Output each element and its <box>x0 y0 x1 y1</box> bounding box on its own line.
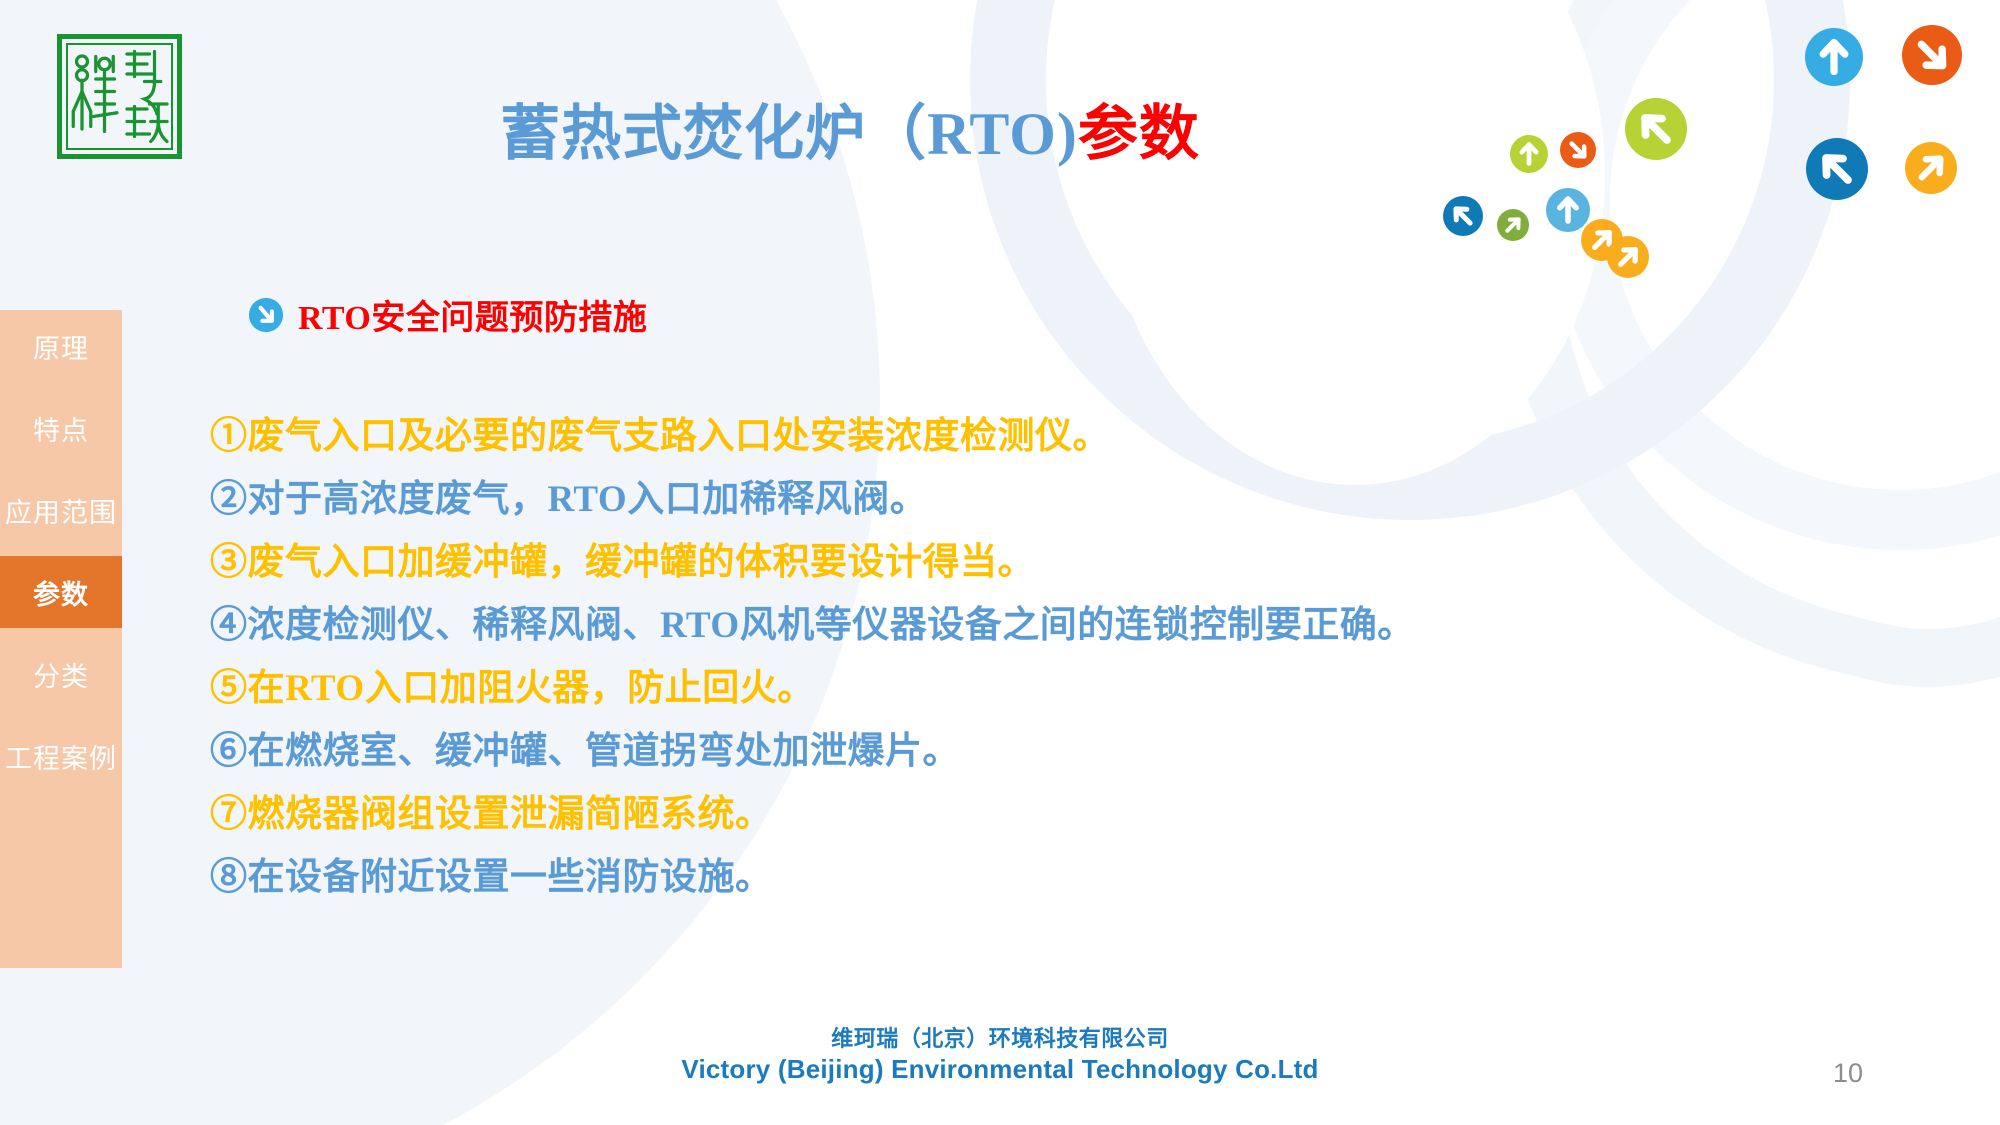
company-name-cn: 维珂瑞（北京）环境科技有限公司 <box>0 1025 2000 1053</box>
page-number: 10 <box>1833 1058 1863 1089</box>
slide-canvas: 蓄热式焚化炉（RTO)参数 原理 特点 应用范围 参数 分类 工程案例 RTO安… <box>0 0 2000 1125</box>
arrow-up-left-circle-icon <box>1625 98 1687 160</box>
arrow-up-circle-icon <box>1510 135 1548 173</box>
arrow-up-left-circle-icon <box>1806 138 1868 200</box>
company-name-en: Victory (Beijing) Environmental Technolo… <box>0 1053 2000 1086</box>
footer: 维珂瑞（北京）环境科技有限公司 Victory (Beijing) Enviro… <box>0 1025 2000 1086</box>
arrow-up-right-circle-icon <box>1905 142 1957 194</box>
arrow-up-circle-icon <box>1805 28 1863 86</box>
arrow-cluster-decoration <box>0 0 2000 1125</box>
arrow-down-right-circle-icon <box>1560 132 1596 168</box>
arrow-up-right-circle-icon <box>1607 236 1649 278</box>
arrow-up-right-circle-icon <box>1497 209 1529 241</box>
arrow-up-left-circle-icon <box>1443 196 1483 236</box>
arrow-down-right-circle-icon <box>1902 25 1962 85</box>
